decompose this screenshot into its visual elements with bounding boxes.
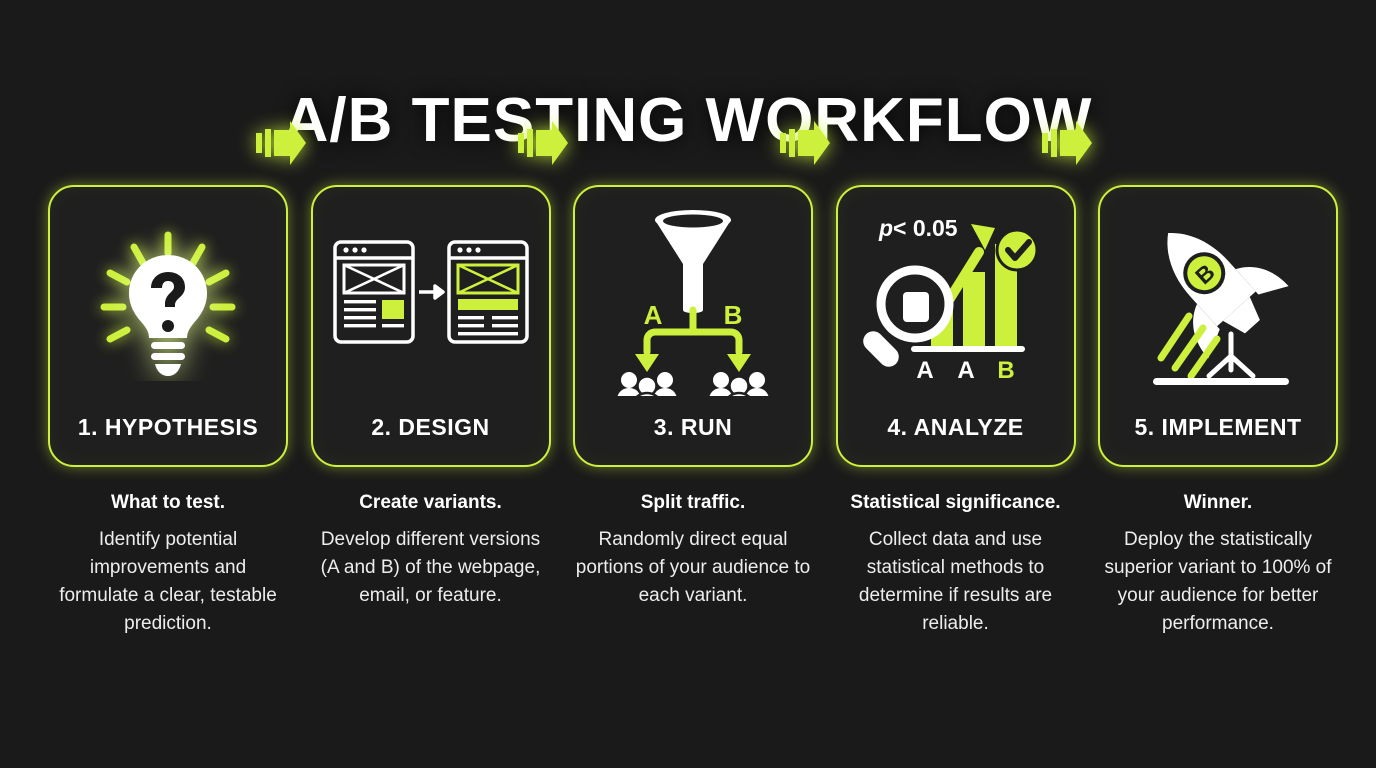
branch-label-b: B <box>724 300 743 330</box>
branch-label-a: A <box>644 300 663 330</box>
workflow-steps: 1. HYPOTHESIS What to test. Identify pot… <box>48 185 1338 638</box>
svg-text:< 0.05: < 0.05 <box>893 215 958 241</box>
step-body: Develop different versions (A and B) of … <box>313 526 548 610</box>
step-card[interactable]: A B <box>573 185 813 467</box>
arrow-right-icon <box>1042 117 1094 169</box>
rocket-launch-icon: B <box>1100 187 1336 414</box>
funnel-split-traffic-icon: A B <box>575 187 811 414</box>
step-card[interactable]: B 5. IMPLEMENT <box>1098 185 1338 467</box>
p-value-label: p <box>878 215 893 241</box>
step-body: Identify potential improvements and form… <box>51 526 286 638</box>
arrow-right-icon <box>256 117 308 169</box>
step-description: Create variants. Develop different versi… <box>313 489 548 610</box>
step-body: Deploy the statistically superior varian… <box>1101 526 1336 638</box>
step-body: Collect data and use statistical methods… <box>838 526 1073 638</box>
step-heading: Create variants. <box>313 489 548 517</box>
step-body: Randomly direct equal portions of your a… <box>576 526 811 610</box>
step-card[interactable]: 2. DESIGN <box>311 185 551 467</box>
step-heading: Winner. <box>1101 489 1336 517</box>
step-label: 4. ANALYZE <box>887 414 1023 465</box>
step-implement[interactable]: B 5. IMPLEMENT <box>1098 185 1338 638</box>
step-label: 2. DESIGN <box>371 414 489 465</box>
step-analyze[interactable]: p < 0.05 <box>836 185 1076 638</box>
arrow-right-icon <box>780 117 832 169</box>
webpage-variants-icon <box>313 187 549 414</box>
bar-label-a1: A <box>916 357 933 384</box>
step-design[interactable]: 2. DESIGN Create variants. Develop diffe… <box>311 185 551 610</box>
step-description: Statistical significance. Collect data a… <box>838 489 1073 638</box>
step-heading: What to test. <box>51 489 286 517</box>
magnifier-bar-chart-icon: p < 0.05 <box>838 187 1074 414</box>
step-card[interactable]: 1. HYPOTHESIS <box>48 185 288 467</box>
step-hypothesis[interactable]: 1. HYPOTHESIS What to test. Identify pot… <box>48 185 288 638</box>
step-label: 3. RUN <box>654 414 732 465</box>
step-heading: Statistical significance. <box>838 489 1073 517</box>
bar-label-a2: A <box>957 357 974 384</box>
step-description: Split traffic. Randomly direct equal por… <box>576 489 811 610</box>
step-label: 5. IMPLEMENT <box>1134 414 1301 465</box>
arrow-right-icon <box>518 117 570 169</box>
bar-label-b: B <box>997 357 1014 384</box>
step-run[interactable]: A B <box>573 185 813 610</box>
lightbulb-question-icon <box>50 187 286 414</box>
step-description: What to test. Identify potential improve… <box>51 489 286 638</box>
step-label: 1. HYPOTHESIS <box>78 414 258 465</box>
step-heading: Split traffic. <box>576 489 811 517</box>
step-card[interactable]: p < 0.05 <box>836 185 1076 467</box>
step-description: Winner. Deploy the statistically superio… <box>1101 489 1336 638</box>
page-title: A/B TESTING WORKFLOW <box>0 90 1376 152</box>
